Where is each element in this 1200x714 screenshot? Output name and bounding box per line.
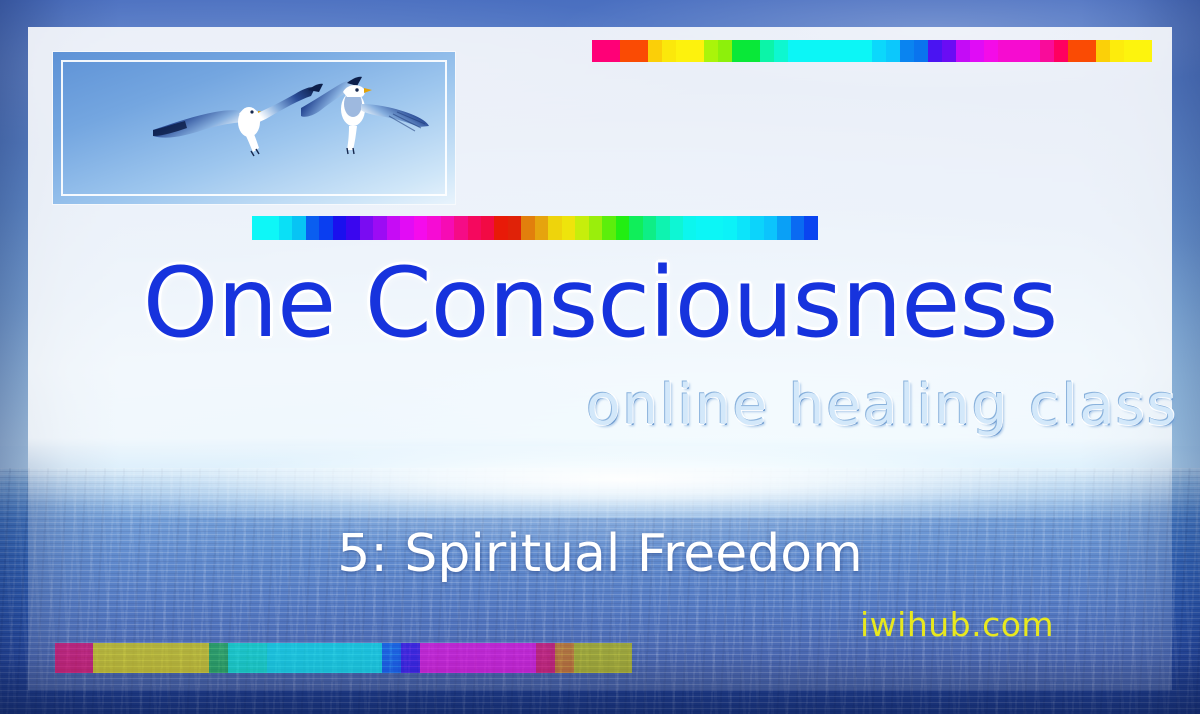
color-swatch — [286, 643, 305, 673]
color-swatch — [928, 40, 942, 62]
color-swatch — [956, 40, 970, 62]
color-swatch — [900, 40, 914, 62]
color-swatch — [802, 40, 816, 62]
color-swatch — [481, 216, 494, 240]
color-swatch — [723, 216, 736, 240]
color-swatch — [440, 643, 459, 673]
color-swatch — [459, 643, 478, 673]
color-swatch — [710, 216, 723, 240]
top-rainbow-strip — [592, 40, 1152, 62]
color-swatch — [858, 40, 872, 62]
middle-rainbow-strip — [252, 216, 818, 240]
color-swatch — [970, 40, 984, 62]
color-swatch — [777, 216, 790, 240]
color-swatch — [718, 40, 732, 62]
color-swatch — [267, 643, 286, 673]
color-swatch — [306, 216, 319, 240]
color-swatch — [427, 216, 440, 240]
color-swatch — [704, 40, 718, 62]
color-swatch — [1082, 40, 1096, 62]
color-swatch — [998, 40, 1012, 62]
color-swatch — [648, 40, 662, 62]
color-swatch — [613, 643, 632, 673]
color-swatch — [319, 216, 332, 240]
color-swatch — [536, 643, 555, 673]
color-swatch — [1040, 40, 1054, 62]
color-swatch — [592, 40, 606, 62]
color-swatch — [732, 40, 746, 62]
color-swatch — [441, 216, 454, 240]
color-swatch — [1124, 40, 1138, 62]
color-swatch — [209, 643, 228, 673]
color-swatch — [788, 40, 802, 62]
color-swatch — [984, 40, 998, 62]
color-swatch — [517, 643, 536, 673]
color-swatch — [830, 40, 844, 62]
color-swatch — [804, 216, 817, 240]
color-swatch — [656, 216, 669, 240]
color-swatch — [670, 216, 683, 240]
color-swatch — [746, 40, 760, 62]
color-swatch — [190, 643, 209, 673]
color-swatch — [247, 643, 266, 673]
color-swatch — [478, 643, 497, 673]
color-swatch — [791, 216, 804, 240]
color-swatch — [305, 643, 324, 673]
color-swatch — [360, 216, 373, 240]
color-swatch — [265, 216, 278, 240]
color-swatch — [454, 216, 467, 240]
seagull-inset-photo — [53, 52, 455, 204]
color-swatch — [629, 216, 642, 240]
color-swatch — [750, 216, 763, 240]
color-swatch — [400, 216, 413, 240]
color-swatch — [279, 216, 292, 240]
color-swatch — [589, 216, 602, 240]
color-swatch — [575, 216, 588, 240]
color-swatch — [844, 40, 858, 62]
color-swatch — [616, 216, 629, 240]
color-swatch — [346, 216, 359, 240]
color-swatch — [494, 216, 507, 240]
color-swatch — [676, 40, 690, 62]
color-swatch — [252, 216, 265, 240]
page-subtitle: online healing class — [0, 378, 1200, 434]
color-swatch — [55, 643, 74, 673]
color-swatch — [696, 216, 709, 240]
color-swatch — [508, 216, 521, 240]
color-swatch — [1096, 40, 1110, 62]
session-title: 5: Spiritual Freedom — [0, 528, 1200, 580]
color-swatch — [562, 216, 575, 240]
color-swatch — [387, 216, 400, 240]
color-swatch — [333, 216, 346, 240]
color-swatch — [737, 216, 750, 240]
color-swatch — [363, 643, 382, 673]
color-swatch — [764, 216, 777, 240]
color-swatch — [816, 40, 830, 62]
color-swatch — [662, 40, 676, 62]
banner-canvas: One Consciousness online healing class 5… — [0, 0, 1200, 714]
color-swatch — [774, 40, 788, 62]
inset-inner-border — [61, 60, 447, 196]
color-swatch — [886, 40, 900, 62]
color-swatch — [414, 216, 427, 240]
color-swatch — [93, 643, 112, 673]
color-swatch — [497, 643, 516, 673]
page-title: One Consciousness — [0, 255, 1200, 351]
color-swatch — [942, 40, 956, 62]
color-swatch — [620, 40, 634, 62]
color-swatch — [468, 216, 481, 240]
color-swatch — [535, 216, 548, 240]
color-swatch — [690, 40, 704, 62]
color-swatch — [292, 216, 305, 240]
color-swatch — [555, 643, 574, 673]
color-swatch — [228, 643, 247, 673]
color-swatch — [914, 40, 928, 62]
color-swatch — [548, 216, 561, 240]
color-swatch — [634, 40, 648, 62]
color-swatch — [1054, 40, 1068, 62]
site-watermark: iwihub.com — [860, 608, 1054, 641]
color-swatch — [74, 643, 93, 673]
color-swatch — [170, 643, 189, 673]
color-swatch — [373, 216, 386, 240]
color-swatch — [602, 216, 615, 240]
color-swatch — [1012, 40, 1026, 62]
color-swatch — [113, 643, 132, 673]
color-swatch — [521, 216, 534, 240]
bottom-rainbow-strip — [55, 643, 632, 673]
color-swatch — [344, 643, 363, 673]
color-swatch — [1026, 40, 1040, 62]
color-swatch — [420, 643, 439, 673]
color-swatch — [401, 643, 420, 673]
color-swatch — [594, 643, 613, 673]
color-swatch — [683, 216, 696, 240]
color-swatch — [324, 643, 343, 673]
color-swatch — [1110, 40, 1124, 62]
color-swatch — [132, 643, 151, 673]
color-swatch — [606, 40, 620, 62]
color-swatch — [760, 40, 774, 62]
color-swatch — [1138, 40, 1152, 62]
color-swatch — [1068, 40, 1082, 62]
color-swatch — [151, 643, 170, 673]
color-swatch — [382, 643, 401, 673]
color-swatch — [872, 40, 886, 62]
color-swatch — [643, 216, 656, 240]
color-swatch — [574, 643, 593, 673]
